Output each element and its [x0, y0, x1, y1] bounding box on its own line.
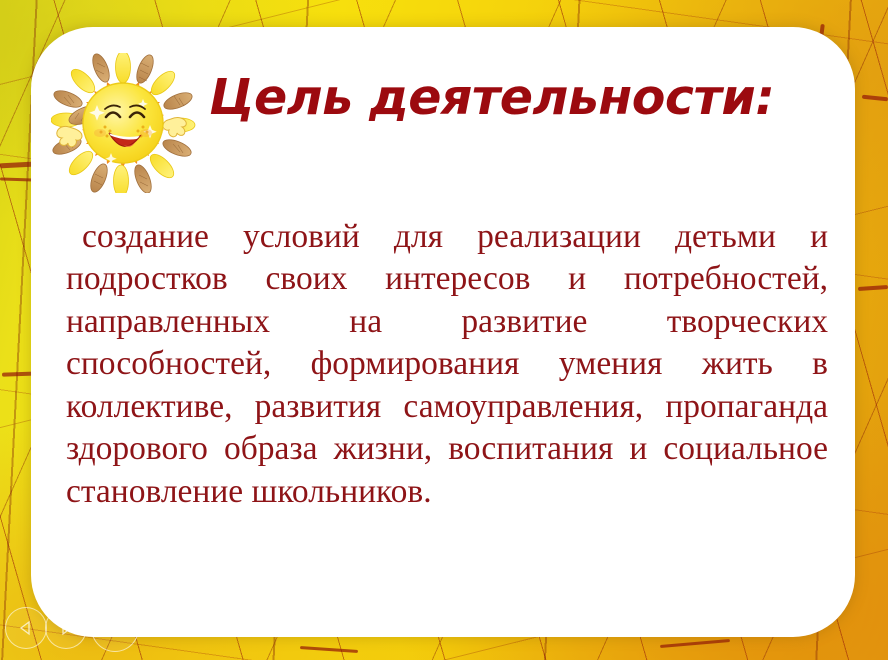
smiling-sun-icon: [51, 53, 226, 193]
slideshow-menu-button[interactable]: [91, 604, 139, 652]
presentation-slide: Цель деятельности: создание условий для …: [0, 0, 888, 660]
previous-slide-button[interactable]: [5, 607, 47, 649]
title-row: Цель деятельности:: [31, 45, 855, 195]
next-slide-button[interactable]: [45, 607, 87, 649]
slideshow-controls: [5, 604, 137, 652]
chevron-right-icon: [58, 620, 74, 636]
body-paragraph: создание условий для реализации детьми и…: [66, 216, 828, 514]
content-card: Цель деятельности: создание условий для …: [31, 27, 855, 637]
page-title: Цель деятельности:: [209, 69, 774, 126]
chevron-left-icon: [18, 620, 34, 636]
presentation-menu-icon: [103, 616, 127, 640]
